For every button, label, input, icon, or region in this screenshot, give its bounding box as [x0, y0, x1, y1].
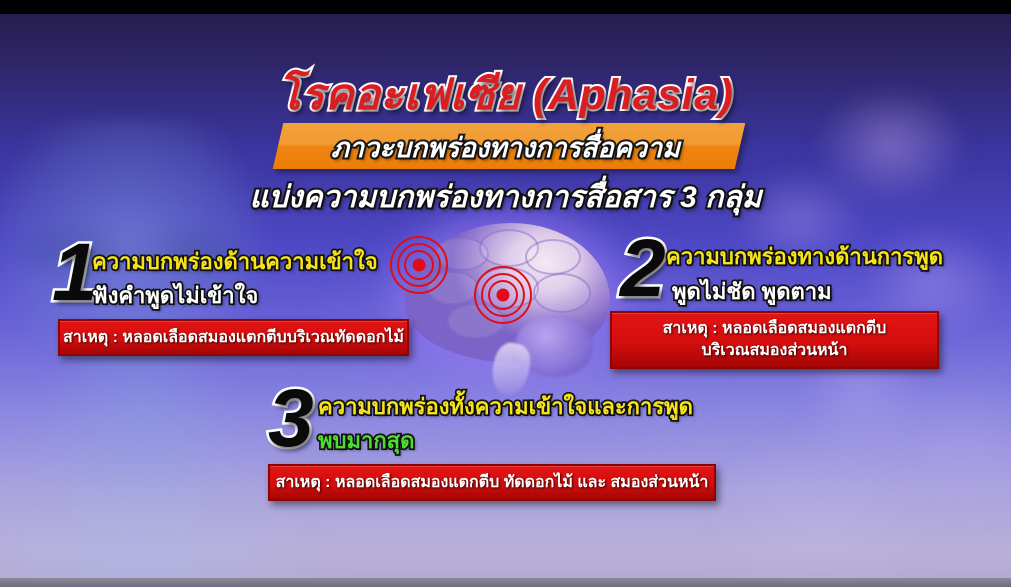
page-subtitle: ภาวะบกพร่องทางการสื่อความ: [0, 126, 1011, 169]
item-2-cause-line: บริเวณสมองส่วนหน้า: [702, 340, 848, 362]
page-subtitle-secondary: แบ่งความบกพร่องทางการสื่อสาร 3 กลุ่ม: [0, 174, 1011, 221]
item-3-subheading: พบมากสุด: [318, 423, 414, 458]
lesion-marker-temporal: [475, 267, 531, 323]
item-1-subheading: ฟังคำพูดไม่เข้าใจ: [92, 278, 258, 313]
page-title: โรคอะเฟเซีย (Aphasia): [0, 60, 1011, 128]
item-2-number: 2: [620, 228, 666, 310]
brain-illustration: [383, 215, 633, 405]
item-3-cause-line: สาเหตุ : หลอดเลือดสมองแตกตีบ ทัดดอกไม้ แ…: [276, 472, 709, 494]
item-1-heading: ความบกพร่องด้านความเข้าใจ: [92, 244, 378, 279]
item-1-cause-line: สาเหตุ : หลอดเลือดสมองแตกตีบบริเวณทัดดอก…: [63, 327, 404, 349]
brain-fold-icon: [525, 239, 581, 275]
item-2-subheading: พูดไม่ชัด พูดตาม: [672, 274, 832, 309]
target-center-dot: [413, 259, 426, 272]
letterbox-top-bar: [0, 0, 1011, 14]
item-3-heading: ความบกพร่องทั้งความเข้าใจและการพูด: [318, 389, 693, 424]
item-3-cause-box: สาเหตุ : หลอดเลือดสมองแตกตีบ ทัดดอกไม้ แ…: [268, 464, 716, 501]
item-2-cause-line: สาเหตุ : หลอดเลือดสมองแตกตีบ: [663, 318, 887, 340]
item-1-cause-box: สาเหตุ : หลอดเลือดสมองแตกตีบบริเวณทัดดอก…: [58, 319, 409, 356]
lesion-marker-frontal: [391, 237, 447, 293]
item-3-number: 3: [268, 378, 314, 460]
brain-fold-icon: [533, 273, 591, 313]
infographic-slide: โรคอะเฟเซีย (Aphasia) ภาวะบกพร่องทางการส…: [0, 0, 1011, 587]
item-2-cause-box: สาเหตุ : หลอดเลือดสมองแตกตีบ บริเวณสมองส…: [610, 311, 939, 369]
letterbox-bottom-bar: [0, 578, 1011, 587]
target-center-dot: [497, 289, 510, 302]
item-2-heading: ความบกพร่องทางด้านการพูด: [666, 239, 943, 274]
item-1-number: 1: [52, 232, 98, 314]
